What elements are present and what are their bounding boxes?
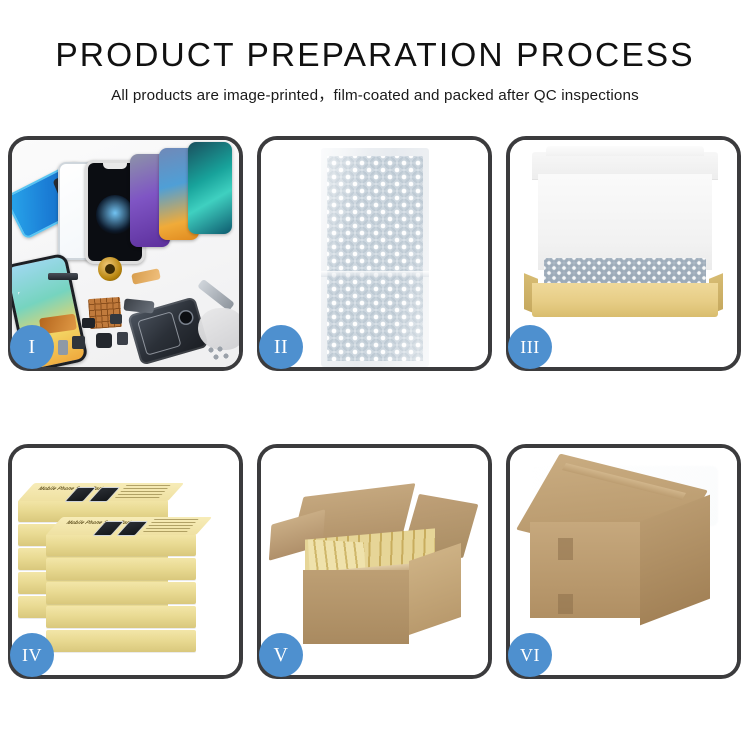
speaker-coil-icon [98,257,122,281]
retail-box [46,606,196,628]
small-part-icon [72,336,85,349]
plastic-sheen-icon [321,148,429,367]
step-badge-1: I [10,325,54,369]
box-back-panel-icon [538,174,712,270]
phone-wallpaper-icon [96,195,134,235]
screws-icon [208,346,230,360]
step-badge-2: II [259,325,303,369]
bubble-wrap-pack-icon [321,148,429,367]
step-badge-5: V [259,633,303,677]
process-step-panel-1[interactable]: I [8,136,243,371]
process-step-panel-6[interactable]: VI [506,444,741,679]
process-step-panel-4[interactable]: Mobile Phone Spare Parts Mobile Phone Sp… [8,444,243,679]
retail-box [46,558,196,580]
carton-tape-icon [558,538,573,560]
retail-box: Mobile Phone Spare Parts [46,534,196,556]
carton-front-face-icon [530,522,640,618]
process-step-panel-2[interactable]: II [257,136,492,371]
small-part-icon [117,332,128,345]
teal-phone-icon [188,142,232,234]
page-subtitle: All products are image-printed，film-coat… [0,73,750,105]
page-header: PRODUCT PREPARATION PROCESS All products… [0,0,750,125]
step-badge-4: IV [10,633,54,677]
phone-notch-icon [103,163,127,169]
process-step-grid: I II III [8,136,742,684]
process-step-panel-5[interactable]: V [257,444,492,679]
small-part-icon [110,314,122,324]
carton-front-panel-icon [303,570,409,644]
box-front-panel-icon [532,283,718,317]
step-badge-6: VI [508,633,552,677]
carton-tape-icon [558,594,573,614]
earpiece-bar-icon [48,273,78,280]
retail-box [46,630,196,652]
page-title: PRODUCT PREPARATION PROCESS [0,0,750,73]
sim-tray-icon [58,340,68,355]
small-part-icon [96,333,112,348]
retail-box [46,582,196,604]
small-part-icon [82,318,95,328]
step-badge-3: III [508,325,552,369]
process-step-panel-3[interactable]: III [506,136,741,371]
